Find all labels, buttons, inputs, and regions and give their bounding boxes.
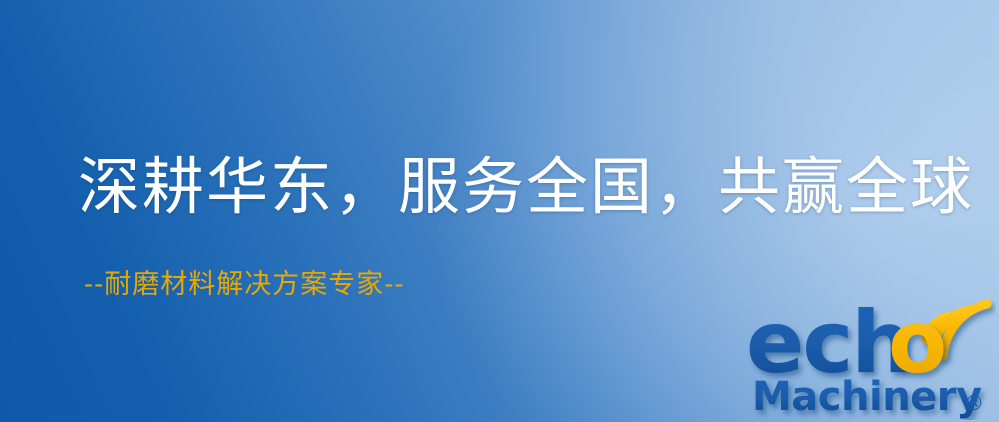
hero-banner: 深耕华东，服务全国，共赢全球 --耐磨材料解决方案专家-- (0, 0, 999, 422)
banner-headline: 深耕华东，服务全国，共赢全球 (78, 150, 974, 224)
logo-wordmark-machinery: Machinery (752, 374, 982, 420)
logo-trademark-symbol: ® (964, 391, 984, 415)
banner-subtitle: --耐磨材料解决方案专家-- (84, 268, 405, 302)
echo-machinery-logo[interactable]: ech o Machinery ® (748, 296, 996, 420)
